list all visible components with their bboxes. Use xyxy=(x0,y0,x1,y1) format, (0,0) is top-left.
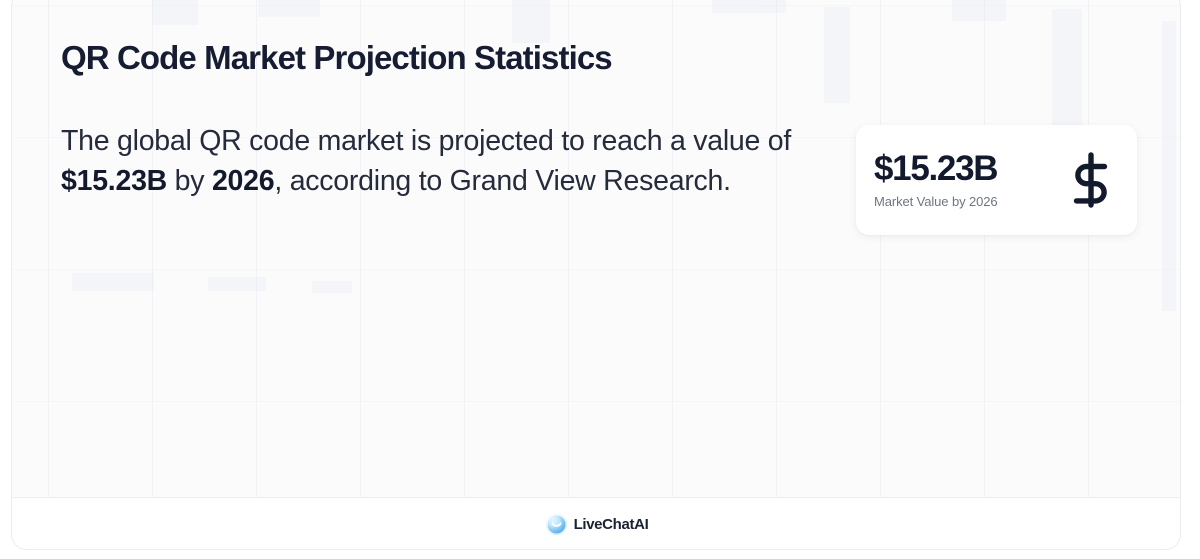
dollar-sign-icon xyxy=(1067,151,1115,209)
body-paragraph: The global QR code market is projected t… xyxy=(61,122,806,201)
stat-card-value: $15.23B xyxy=(874,151,1057,188)
footer: LiveChatAI xyxy=(12,498,1181,550)
stat-card-label: Market Value by 2026 xyxy=(874,194,1057,209)
content-frame: QR Code Market Projection Statistics The… xyxy=(11,0,1181,550)
livechatai-smiley-icon xyxy=(546,514,567,535)
body-tail: , according to Grand View Research. xyxy=(274,165,730,197)
content-area: QR Code Market Projection Statistics The… xyxy=(12,0,1181,507)
body-mid: by xyxy=(167,165,212,197)
page-title: QR Code Market Projection Statistics xyxy=(61,39,612,77)
brand-name: LiveChatAI xyxy=(574,516,649,533)
body-value-bold: $15.23B xyxy=(61,165,167,197)
stat-card-text: $15.23B Market Value by 2026 xyxy=(874,151,1057,210)
body-year-bold: 2026 xyxy=(212,165,274,197)
screenshot-root: QR Code Market Projection Statistics The… xyxy=(0,0,1200,559)
body-lead: The global QR code market is projected t… xyxy=(61,125,791,157)
stat-card: $15.23B Market Value by 2026 xyxy=(856,125,1137,235)
